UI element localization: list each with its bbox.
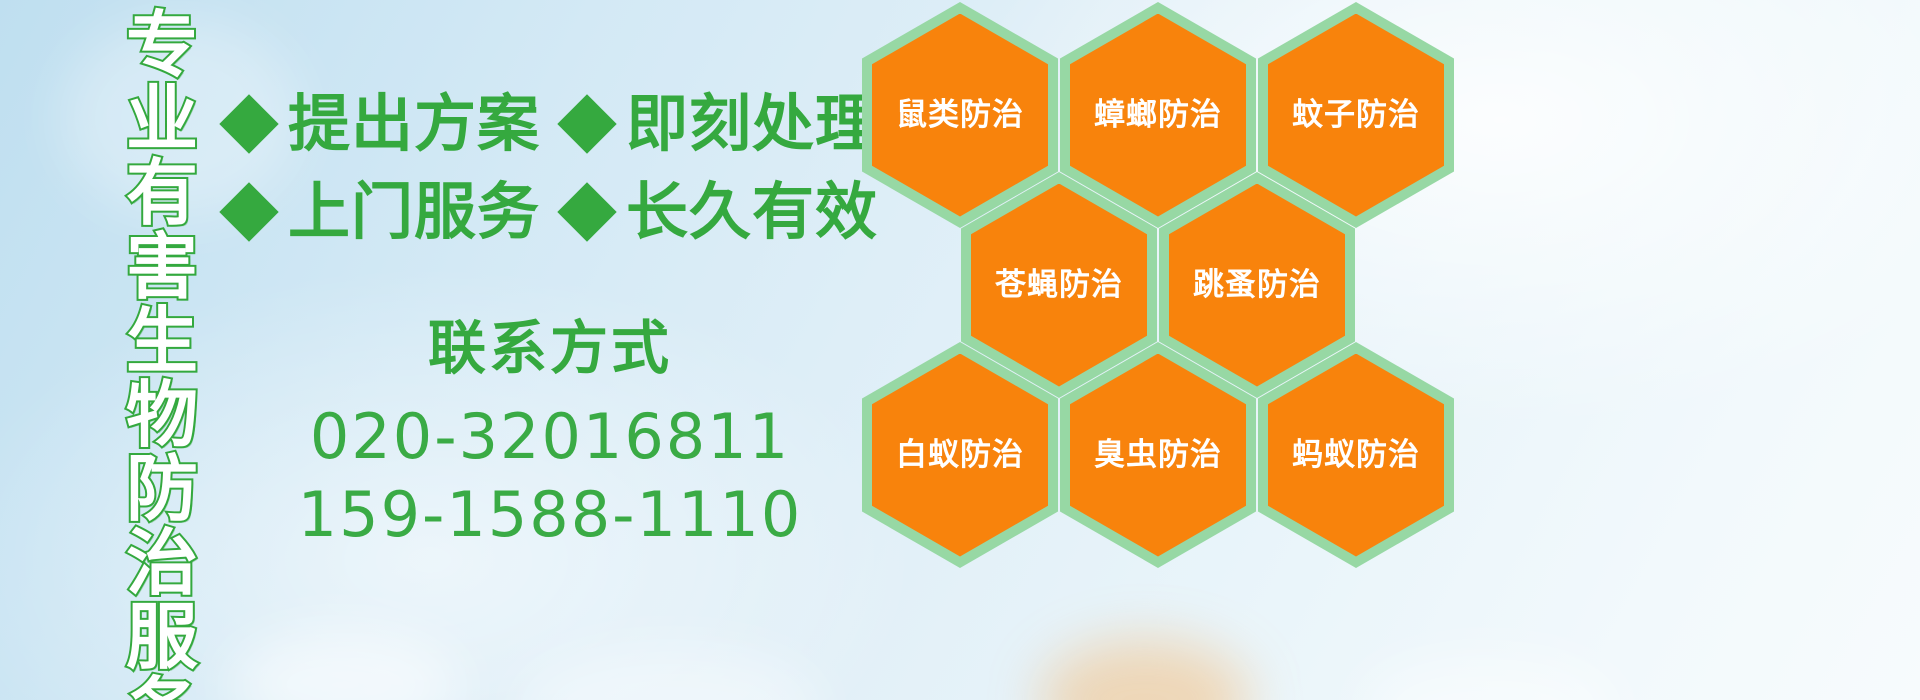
service-hex-inner: 蚂蚁防治 <box>1268 354 1444 557</box>
background-blur-blob <box>520 648 820 700</box>
diamond-bullet-icon <box>557 94 616 153</box>
service-hex-inner: 鼠类防治 <box>872 14 1048 217</box>
service-hex-inner: 蚊子防治 <box>1268 14 1444 217</box>
vertical-headline-char: 防 <box>126 452 198 526</box>
service-honeycomb: 鼠类防治 蟑螂防治 蚊子防治 苍蝇防治 跳蚤防治 白蚁防治 <box>862 0 1462 572</box>
service-hex-inner: 跳蚤防治 <box>1169 184 1345 387</box>
service-hex-label: 蟑螂防治 <box>1094 98 1222 132</box>
service-hex-inner: 苍蝇防治 <box>971 184 1147 387</box>
vertical-headline-char: 物 <box>126 378 198 452</box>
slogan-item: 提出方案 <box>228 93 540 155</box>
slogan-row: 上门服务 长久有效 <box>228 168 878 256</box>
vertical-headline-char: 业 <box>126 82 198 156</box>
vertical-headline-char: 害 <box>126 230 198 304</box>
diamond-bullet-icon <box>219 182 278 241</box>
service-hex-label: 蚊子防治 <box>1292 98 1420 132</box>
slogan-label: 长久有效 <box>626 181 878 243</box>
slogan-label: 上门服务 <box>288 181 540 243</box>
background-blur-blob <box>1040 640 1250 700</box>
service-hex-inner: 蟑螂防治 <box>1070 14 1246 217</box>
service-hex-label: 苍蝇防治 <box>995 268 1123 302</box>
slogan-label: 提出方案 <box>288 93 540 155</box>
slogan-item: 即刻处理 <box>566 93 878 155</box>
diamond-bullet-icon <box>557 182 616 241</box>
service-hex-label: 鼠类防治 <box>896 98 1024 132</box>
vertical-headline-char: 专 <box>126 8 198 82</box>
slogan-block: 提出方案 即刻处理 上门服务 长久有效 <box>228 80 878 256</box>
slogan-item: 长久有效 <box>566 181 878 243</box>
diamond-bullet-icon <box>219 94 278 153</box>
slogan-row: 提出方案 即刻处理 <box>228 80 878 168</box>
service-hex-inner: 白蚁防治 <box>872 354 1048 557</box>
phone-number-mobile[interactable]: 159-1588-1110 <box>230 476 870 554</box>
service-hex-label: 白蚁防治 <box>896 438 1024 472</box>
vertical-headline-char: 服 <box>126 600 198 674</box>
vertical-headline-char: 治 <box>126 526 198 600</box>
service-hex-label: 臭虫防治 <box>1094 438 1222 472</box>
background-blur-blob <box>1360 655 1620 700</box>
vertical-headline: 专 业 有 害 生 物 防 治 服 务 <box>112 8 212 698</box>
service-hex-label: 跳蚤防治 <box>1193 268 1321 302</box>
background-blur-blob <box>230 630 460 700</box>
service-hex-inner: 臭虫防治 <box>1070 354 1246 557</box>
vertical-headline-char: 务 <box>126 674 198 700</box>
contact-title: 联系方式 <box>230 312 870 384</box>
slogan-item: 上门服务 <box>228 181 540 243</box>
vertical-headline-char: 有 <box>126 156 198 230</box>
contact-block: 联系方式 020-32016811 159-1588-1110 <box>230 312 870 554</box>
vertical-headline-char: 生 <box>126 304 198 378</box>
slogan-label: 即刻处理 <box>626 93 878 155</box>
service-hex-label: 蚂蚁防治 <box>1292 438 1420 472</box>
phone-number-landline[interactable]: 020-32016811 <box>230 398 870 476</box>
pest-control-service-banner: 专 业 有 害 生 物 防 治 服 务 提出方案 即刻处理 上门服务 <box>0 0 1920 700</box>
